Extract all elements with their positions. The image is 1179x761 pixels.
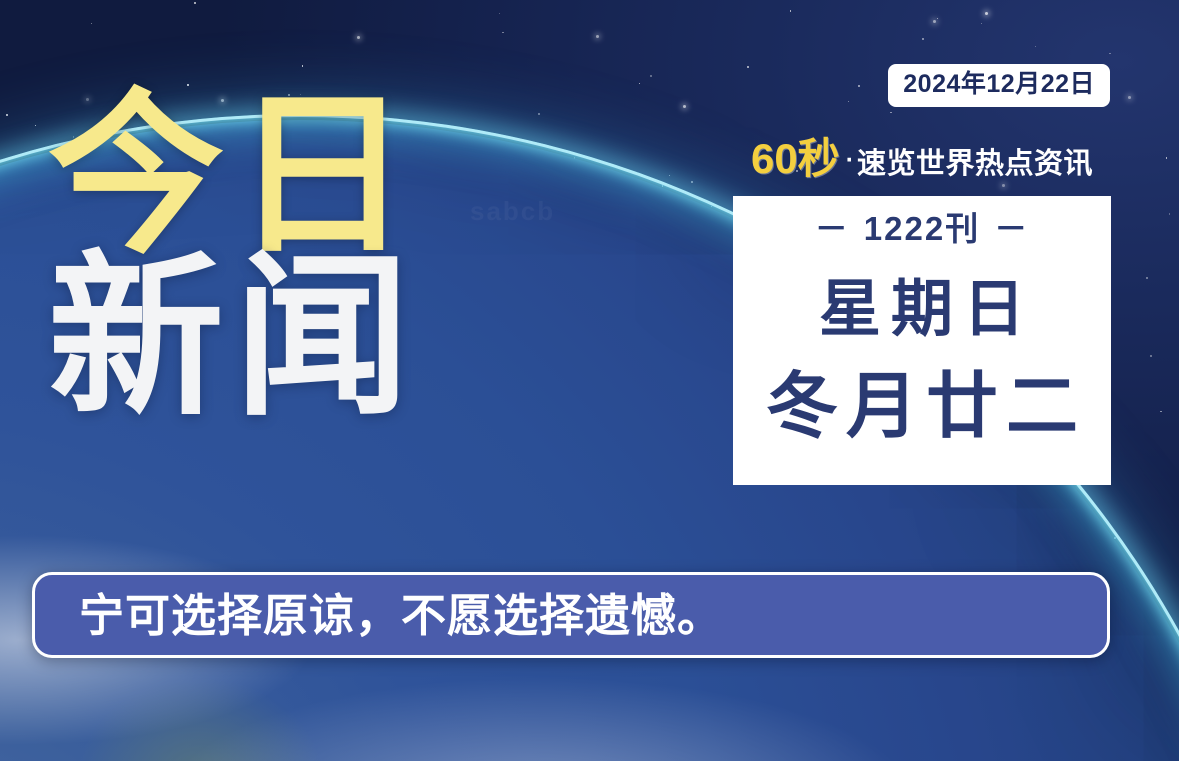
issue-number-row: －1222刊－ bbox=[801, 212, 1043, 245]
page-title-line-1: 今日 bbox=[48, 96, 420, 258]
news-poster: sabcb 2024年12月22日 今日 新闻 60秒·速览世界热点资讯 －12… bbox=[0, 0, 1179, 761]
issue-dash-right: － bbox=[994, 212, 1029, 245]
date-badge: 2024年12月22日 bbox=[888, 64, 1110, 107]
lunar-date-label: 冬月廿二 bbox=[758, 371, 1086, 443]
issue-number: 1222刊 bbox=[864, 210, 980, 247]
watermark-text: sabcb bbox=[470, 196, 555, 227]
quote-text: 宁可选择原谅，不愿选择遗憾。 bbox=[79, 593, 723, 638]
issue-dash-left: － bbox=[815, 212, 850, 245]
quote-banner: 宁可选择原谅，不愿选择遗憾。 bbox=[32, 572, 1110, 658]
page-title: 今日 新闻 bbox=[48, 96, 420, 420]
weekday-label: 星期日 bbox=[809, 279, 1035, 341]
page-title-line-2: 新闻 bbox=[48, 258, 420, 420]
issue-info-card: －1222刊－ 星期日 冬月廿二 bbox=[733, 196, 1111, 485]
tagline: 60秒·速览世界热点资讯 bbox=[733, 138, 1111, 180]
tagline-separator: · bbox=[846, 146, 854, 174]
tagline-seconds: 60秒 bbox=[751, 135, 840, 182]
tagline-description: 速览世界热点资讯 bbox=[857, 148, 1093, 180]
